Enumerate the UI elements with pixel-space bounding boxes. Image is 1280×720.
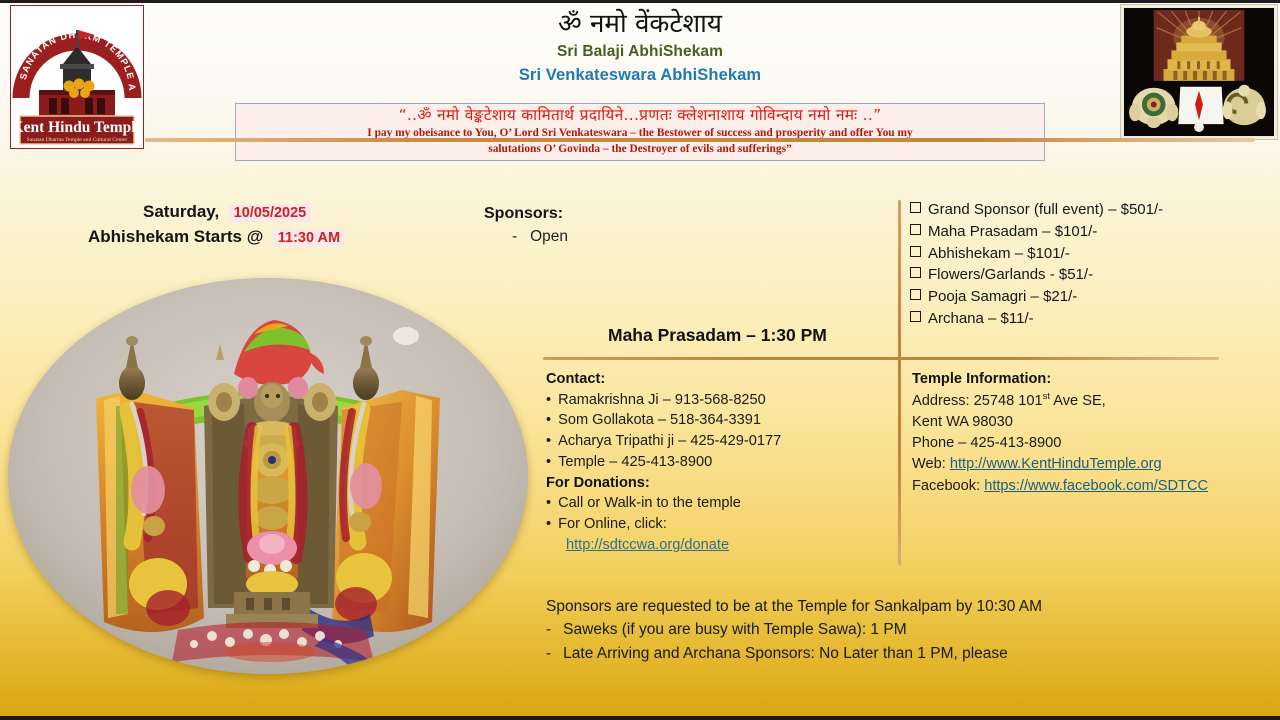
donate-link[interactable]: http://sdtccwa.org/donate [566,535,729,556]
address-ordinal-suffix: st [1043,391,1050,402]
bullet-icon: • [546,410,551,431]
bullet-icon: • [546,514,551,535]
list-dash: - [546,618,551,641]
current-sponsors-row: - Open [484,228,568,246]
top-border-rule [0,0,1280,3]
list-item[interactable]: Maha Prasadam – $101/- [910,221,1163,243]
bullet-icon: • [546,390,551,411]
svg-text:Sanatan Dharma Temple and Cult: Sanatan Dharma Temple and Cultural Cente… [27,137,128,143]
list-item[interactable]: Flowers/Garlands - $51/- [910,264,1163,286]
checkbox-icon[interactable] [910,311,921,322]
list-dash: - [512,228,517,245]
svg-text:Kent Hindu Temple: Kent Hindu Temple [12,119,143,136]
divider-vertical [898,200,901,566]
checkbox-icon[interactable] [910,267,921,278]
contact-person: Temple – 425-413-8900 [558,452,712,473]
donate-link-row[interactable]: http://sdtccwa.org/donate [546,535,896,556]
mantra-box: “..ॐ नमो वेङ्कटेशाय कामितार्थ प्रदायिने.… [235,103,1045,161]
sponsorship-level-label: Maha Prasadam – $101/- [928,221,1097,243]
checkbox-icon[interactable] [910,202,921,213]
list-item[interactable]: Abhishekam – $101/- [910,243,1163,265]
list-item[interactable]: Grand Sponsor (full event) – $501/- [910,199,1163,221]
event-date-value: 10/05/2025 [229,204,312,222]
tirumala-temple-photo [1120,4,1278,140]
temple-address-line1: Address: 25748 101st Ave SE, [912,390,1277,412]
current-sponsors-title: Sponsors: [484,205,568,223]
list-item: •Call or Walk-in to the temple [546,493,896,514]
sankalpam-note: Sponsors are requested to be at the Temp… [546,595,1246,618]
address-suffix: Ave SE, [1050,393,1106,409]
address-prefix: Address: 25748 101 [912,393,1043,409]
event-datetime-block: Saturday, 10/05/2025 Abhishekam Starts @… [88,200,498,249]
facebook-link[interactable]: https://www.facebook.com/SDTCC [984,478,1208,494]
page-title-group: ॐ नमो वेंकटेशाय Sri Balaji AbhiShekam Sr… [330,8,950,85]
list-item: •Ramakrishna Ji – 913-568-8250 [546,390,896,411]
event-day-label: Saturday, [143,202,219,221]
divider-horizontal-middle [543,357,1219,360]
temple-address-line2: Kent WA 98030 [912,412,1277,433]
mantra-sanskrit: “..ॐ नमो वेङ्कटेशाय कामितार्थ प्रदायिने.… [242,107,1038,125]
temple-gopuram-artwork [1124,8,1274,136]
sponsorship-level-label: Abhishekam – $101/- [928,243,1070,265]
donation-option: Call or Walk-in to the temple [558,493,741,514]
event-start-row: Abhishekam Starts @ 11:30 AM [88,225,498,250]
sponsorship-level-label: Grand Sponsor (full event) – $501/- [928,199,1163,221]
sponsorship-level-label: Flowers/Garlands - $51/- [928,264,1093,286]
list-item: -Late Arriving and Archana Sponsors: No … [546,642,1246,665]
current-sponsors-value: Open [530,228,568,245]
sponsor-notes-block: Sponsors are requested to be at the Temp… [546,595,1246,665]
list-item: •Acharya Tripathi ji – 425-429-0177 [546,431,896,452]
list-item[interactable]: Pooja Samagri – $21/- [910,286,1163,308]
contact-block: Contact: •Ramakrishna Ji – 913-568-8250 … [546,369,896,555]
contact-title: Contact: [546,369,896,390]
sponsorship-levels-list: Grand Sponsor (full event) – $501/- Maha… [910,199,1163,330]
maha-prasadam-time: Maha Prasadam – 1:30 PM [608,325,827,346]
note-text: Late Arriving and Archana Sponsors: No L… [563,642,1008,665]
logo-artwork: SANATAN DHARM TEMPLE AND CULTURAL CENTER… [11,6,143,148]
list-item: -Saweks (if you are busy with Temple Saw… [546,618,1246,641]
list-item: •Temple – 425-413-8900 [546,452,896,473]
sponsorship-level-label: Archana – $11/- [928,308,1034,330]
contact-person: Acharya Tripathi ji – 425-429-0177 [558,431,781,452]
flyer-canvas: SANATAN DHARM TEMPLE AND CULTURAL CENTER… [0,0,1280,720]
mantra-translation-line2: salutations O’ Govinda – the Destroyer o… [242,143,1038,157]
web-label: Web: [912,456,950,472]
checkbox-icon[interactable] [910,289,921,300]
current-sponsors-block: Sponsors: - Open [484,205,568,246]
temple-information-block: Temple Information: Address: 25748 101st… [912,369,1277,497]
temple-facebook-row[interactable]: Facebook: https://www.facebook.com/SDTCC [912,476,1277,497]
contact-person: Ramakrishna Ji – 913-568-8250 [558,390,766,411]
checkbox-icon[interactable] [910,224,921,235]
event-start-label: Abhishekam Starts @ [88,227,263,246]
temple-web-row[interactable]: Web: http://www.KentHinduTemple.org [912,454,1277,475]
temple-phone: Phone – 425-413-8900 [912,433,1277,454]
list-item: •For Online, click: [546,514,896,535]
donations-title: For Donations: [546,473,896,494]
list-item[interactable]: Archana – $11/- [910,308,1163,330]
note-text: Saweks (if you are busy with Temple Sawa… [563,618,906,641]
temple-information-title: Temple Information: [912,369,1277,390]
donation-option: For Online, click: [558,514,667,535]
bullet-icon: • [546,493,551,514]
om-namo-venkateshaya-title: ॐ नमो वेंकटेशाय [330,8,950,41]
deity-photo-artwork [8,278,528,674]
subtitle-venkateswara: Sri Venkateswara AbhiShekam [330,66,950,85]
website-link[interactable]: http://www.KentHinduTemple.org [950,456,1162,472]
event-day-row: Saturday, 10/05/2025 [88,200,498,225]
bullet-icon: • [546,452,551,473]
list-item: •Som Gollakota – 518-364-3391 [546,410,896,431]
list-dash: - [546,642,551,665]
contact-person: Som Gollakota – 518-364-3391 [558,410,761,431]
sponsorship-level-label: Pooja Samagri – $21/- [928,286,1077,308]
divider-horizontal-top [145,138,1255,142]
bullet-icon: • [546,431,551,452]
subtitle-balaji: Sri Balaji AbhiShekam [330,43,950,61]
facebook-label: Facebook: [912,478,984,494]
temple-logo: SANATAN DHARM TEMPLE AND CULTURAL CENTER… [10,5,144,149]
checkbox-icon[interactable] [910,246,921,257]
event-start-time-value: 11:30 AM [273,229,345,247]
deity-photo [8,278,528,674]
